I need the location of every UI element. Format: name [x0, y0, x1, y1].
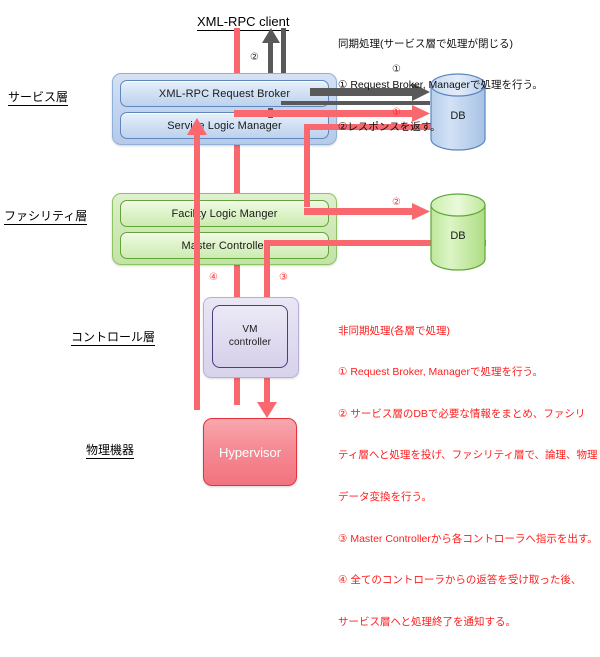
note-async-line5: ③ Master Controllerから各コントローラへ指示を出す。 [338, 533, 600, 547]
sync-flow-up-arrowhead [262, 28, 280, 44]
hypervisor-label: Hypervisor [219, 445, 281, 460]
facility-box-logic-manger[interactable]: Facility Logic Manger [120, 200, 329, 227]
async-flow-facility-to-db-arrowhead [408, 203, 430, 220]
note-async-line3: ティ層へと処理を投げ、ファシリティ層で、論理、物理 [338, 449, 600, 463]
note-async-line1: ① Request Broker, Managerで処理を行う。 [338, 366, 600, 380]
async-flow-return-vertical [194, 130, 200, 410]
note-sync: 同期処理(サービス層で処理が閉じる) ① Request Broker, Man… [338, 10, 596, 162]
layer-label-service: サービス層 [8, 91, 68, 106]
note-async-title: 非同期処理(各層で処理) [338, 325, 600, 339]
note-sync-line2: ②レスポンスを返す。 [338, 121, 596, 135]
layer-label-facility: ファシリティ層 [4, 210, 87, 225]
marker-async-4: ④ [209, 273, 218, 283]
async-flow-db-to-facility-vertical [304, 127, 310, 207]
layer-label-physical: 物理機器 [86, 444, 134, 459]
physical-box-hypervisor[interactable]: Hypervisor [203, 418, 297, 486]
marker-async-3: ③ [279, 273, 288, 283]
note-sync-title: 同期処理(サービス層で処理が閉じる) [338, 38, 596, 52]
marker-sync-2: ② [250, 53, 259, 63]
service-box-logic-manager-label: Service Logic Manager [167, 120, 282, 132]
note-async-line2: ② サービス層のDBで必要な情報をまとめ、ファシリ [338, 408, 600, 422]
vm-controller-line1: VM [242, 324, 257, 337]
diagram-canvas: XML-RPC client サービス層 ファシリティ層 コントロール層 物理機… [0, 0, 600, 500]
layer-label-control: コントロール層 [71, 331, 155, 346]
note-async-line6: ④ 全てのコントローラからの返答を受け取った後、 [338, 574, 600, 588]
marker-async-2: ② [392, 198, 401, 208]
service-box-request-broker-label: XML-RPC Request Broker [159, 88, 290, 100]
vm-controller-line2: controller [229, 337, 271, 350]
note-sync-line1: ① Request Broker, Managerで処理を行う。 [338, 79, 596, 93]
async-flow-facility-to-db [304, 208, 422, 215]
note-async-line4: データ変換を行う。 [338, 491, 600, 505]
async-flow-master-to-hypervisor-arrowhead [257, 400, 277, 418]
note-async-line7: サービス層へと処理終了を通知する。 [338, 616, 600, 630]
facility-layer-database: DB [429, 192, 487, 272]
note-async: 非同期処理(各層で処理) ① Request Broker, Managerで処… [338, 297, 600, 657]
facility-database-label: DB [429, 230, 487, 242]
async-flow-return-arrowhead [187, 118, 207, 136]
control-box-vm-controller[interactable]: VM controller [212, 305, 288, 368]
facility-box-logic-manger-label: Facility Logic Manger [171, 208, 277, 220]
